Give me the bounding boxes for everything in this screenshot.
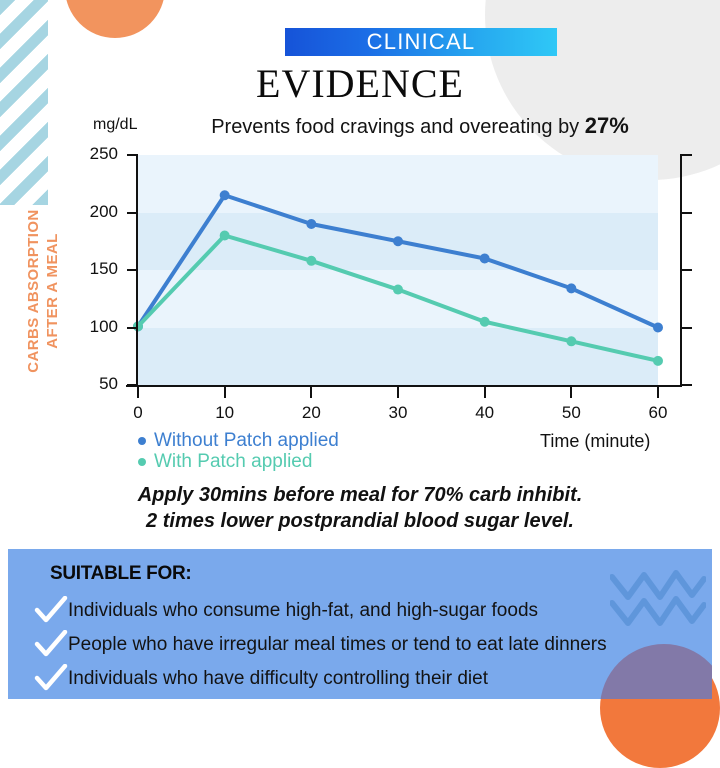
data-point — [653, 323, 663, 333]
line-chart: 501001502002500102030405060 — [0, 140, 720, 420]
data-point — [480, 317, 490, 327]
x-tick — [570, 387, 572, 398]
suitable-for-item-label: Individuals who have difficulty controll… — [68, 668, 488, 690]
clinical-banner-label: CLINICAL — [367, 29, 476, 55]
suitable-for-item-label: People who have irregular meal times or … — [68, 634, 607, 656]
apply-note-line2: 2 times lower postprandial blood sugar l… — [0, 508, 720, 534]
data-point — [393, 285, 403, 295]
suitable-for-panel: SUITABLE FOR: Individuals who consume hi… — [8, 549, 712, 699]
orange-circle-decoration-top — [65, 0, 165, 38]
x-tick — [397, 387, 399, 398]
legend-dot-icon — [138, 458, 146, 466]
y-axis-tick-label: 100 — [68, 317, 118, 337]
y-axis-tick-label: 150 — [68, 259, 118, 279]
suitable-for-list-item: Individuals who have difficulty controll… — [34, 663, 488, 695]
clinical-banner: CLINICAL — [285, 28, 557, 56]
y-tick — [127, 269, 138, 271]
x-tick — [310, 387, 312, 398]
suitable-for-list-item: Individuals who consume high-fat, and hi… — [34, 595, 538, 627]
series-line — [138, 195, 658, 327]
legend-item: With Patch applied — [138, 451, 339, 472]
x-axis — [126, 385, 682, 387]
data-point — [480, 254, 490, 264]
apply-note: Apply 30mins before meal for 70% carb in… — [0, 482, 720, 534]
y-axis-tick-label: 200 — [68, 202, 118, 222]
y-tick-right — [680, 212, 692, 214]
legend-label: With Patch applied — [154, 451, 312, 473]
subtitle-highlight: 27% — [585, 113, 629, 138]
apply-note-line1: Apply 30mins before meal for 70% carb in… — [0, 482, 720, 508]
series-line — [138, 236, 658, 361]
purple-circle-decoration — [600, 644, 712, 699]
x-axis-tick-label: 10 — [205, 403, 245, 423]
chart-legend: Without Patch appliedWith Patch applied — [138, 430, 339, 472]
x-axis-tick-label: 30 — [378, 403, 418, 423]
suitable-for-list-item: People who have irregular meal times or … — [34, 629, 607, 661]
legend-label: Without Patch applied — [154, 430, 339, 452]
subtitle: Prevents food cravings and overeating by… — [170, 113, 670, 139]
y-axis-left — [136, 155, 138, 387]
check-icon — [34, 596, 68, 626]
data-point — [393, 236, 403, 246]
data-point — [220, 190, 230, 200]
x-axis-tick-label: 50 — [551, 403, 591, 423]
data-point — [566, 336, 576, 346]
y-tick-right — [680, 269, 692, 271]
data-point — [306, 256, 316, 266]
y-axis-right — [680, 155, 682, 387]
y-tick-right — [680, 154, 692, 156]
x-axis-tick-label: 20 — [291, 403, 331, 423]
suitable-for-item-label: Individuals who consume high-fat, and hi… — [68, 600, 538, 622]
legend-dot-icon — [138, 437, 146, 445]
x-axis-title: Time (minute) — [540, 431, 650, 452]
x-tick — [137, 387, 139, 398]
check-icon — [34, 630, 68, 660]
x-tick — [484, 387, 486, 398]
y-tick-right — [680, 384, 692, 386]
y-tick — [127, 154, 138, 156]
page-title: EVIDENCE — [0, 60, 720, 107]
y-axis-tick-label: 250 — [68, 144, 118, 164]
y-axis-tick-label: 50 — [68, 374, 118, 394]
data-point — [653, 356, 663, 366]
x-axis-tick-label: 40 — [465, 403, 505, 423]
y-tick-right — [680, 327, 692, 329]
check-icon — [34, 664, 68, 694]
x-axis-tick-label: 60 — [638, 403, 678, 423]
data-point — [566, 283, 576, 293]
x-axis-tick-label: 0 — [118, 403, 158, 423]
x-tick — [657, 387, 659, 398]
y-tick — [127, 384, 138, 386]
y-tick — [127, 327, 138, 329]
data-point — [220, 231, 230, 241]
suitable-for-heading: SUITABLE FOR: — [50, 563, 191, 585]
legend-item: Without Patch applied — [138, 430, 339, 451]
data-point — [306, 219, 316, 229]
y-tick — [127, 212, 138, 214]
x-tick — [224, 387, 226, 398]
zigzag-decoration — [610, 567, 706, 629]
subtitle-text: Prevents food cravings and overeating by — [211, 116, 585, 138]
y-axis-unit-label: mg/dL — [93, 116, 137, 134]
